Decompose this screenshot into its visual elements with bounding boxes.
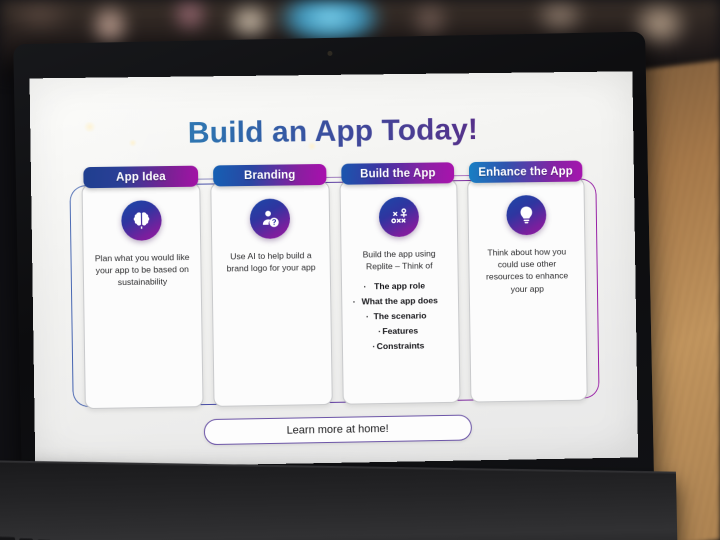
tab-label: Enhance the App — [478, 165, 573, 178]
tab-build-the-app[interactable]: Build the App — [341, 162, 455, 184]
card-app-idea[interactable]: Plan what you would like your app to be … — [82, 183, 204, 409]
step-column-enhance-the-app: Enhance the App — [467, 161, 588, 403]
photo-scene: Build an App Today! App Idea — [0, 0, 720, 540]
bullet-item: Features — [350, 323, 450, 339]
card-bullet-list: The app role What the app does The scena… — [349, 279, 450, 354]
presentation-slide: Build an App Today! App Idea — [30, 71, 639, 468]
page-title: Build an App Today! — [50, 111, 613, 151]
tab-label: Branding — [244, 169, 296, 182]
card-body-text: Plan what you would like your app to be … — [92, 251, 193, 289]
bullet-item: The scenario — [350, 308, 450, 324]
card-branding[interactable]: Use AI to help build a brand logo for yo… — [211, 181, 333, 407]
lightbulb-icon — [506, 195, 546, 235]
step-card-group: App Idea Plan what you — [81, 161, 587, 410]
card-build-the-app[interactable]: Build the app using Replite – Think of T… — [339, 179, 460, 405]
card-body-text: Use AI to help build a brand logo for yo… — [221, 249, 322, 275]
card-body-text: Think about how you could use other reso… — [477, 245, 577, 295]
tab-enhance-the-app[interactable]: Enhance the App — [469, 161, 582, 183]
laptop-screen: Build an App Today! App Idea — [30, 71, 639, 468]
tab-label: Build the App — [360, 167, 436, 180]
step-column-build-the-app: Build the App — [339, 162, 461, 405]
footer-row: Learn more at home! — [55, 412, 618, 448]
tab-app-idea[interactable]: App Idea — [84, 166, 198, 189]
bullet-item: Constraints — [350, 338, 450, 354]
strategy-playbook-icon — [378, 197, 418, 238]
laptop-base — [0, 462, 678, 540]
laptop: Build an App Today! App Idea — [0, 23, 677, 537]
tab-label: App Idea — [116, 171, 166, 184]
person-question-icon — [250, 198, 291, 239]
learn-more-label: Learn more at home! — [286, 423, 388, 437]
process-flow: App Idea Plan what you — [81, 161, 587, 410]
bullet-item: The app role — [349, 279, 449, 295]
card-enhance-the-app[interactable]: Think about how you could use other reso… — [467, 177, 588, 402]
webcam-icon — [327, 51, 332, 56]
tab-branding[interactable]: Branding — [213, 164, 327, 187]
card-body-text: Build the app using Replite – Think of — [349, 247, 449, 273]
step-column-branding: Branding — [210, 164, 332, 407]
learn-more-button[interactable]: Learn more at home! — [203, 415, 471, 446]
step-column-app-idea: App Idea Plan what you — [81, 166, 204, 410]
brain-icon — [121, 200, 162, 241]
bullet-item: What the app does — [350, 293, 450, 309]
laptop-lid-bezel: Build an App Today! App Idea — [13, 32, 654, 495]
